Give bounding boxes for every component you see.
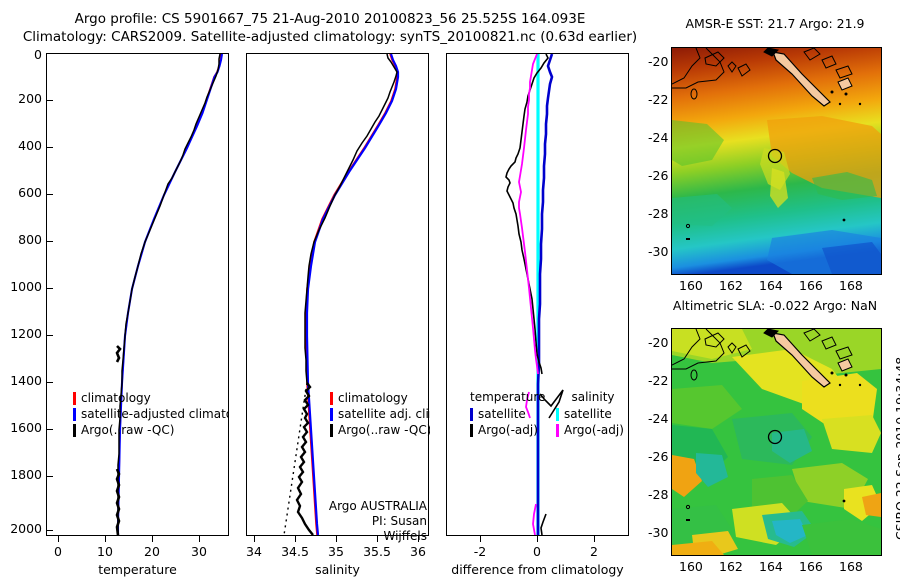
salinity-xtick-34p5: 34.5 bbox=[275, 544, 315, 559]
salinity-panel bbox=[246, 53, 429, 536]
salinity-curves bbox=[247, 54, 428, 535]
difference-xtick-neg2: -2 bbox=[460, 544, 500, 559]
depth-tick-2000: 2000 bbox=[0, 521, 42, 536]
sla-xtick-160: 160 bbox=[679, 559, 703, 574]
temperature-xtick-0: 0 bbox=[38, 544, 78, 559]
depth-tick-200: 200 bbox=[0, 91, 42, 106]
depth-tick-600: 600 bbox=[0, 185, 42, 200]
depth-tick-400: 400 bbox=[0, 138, 42, 153]
difference-legend: temperature satellite Argo(-adj) salinit… bbox=[470, 390, 630, 442]
difference-legend-salinity-column: salinity satellite Argo(-adj) bbox=[556, 390, 630, 442]
temperature-axis-label: temperature bbox=[46, 562, 229, 577]
sla-xtick-168: 168 bbox=[839, 559, 863, 574]
legend-item-argo: Argo(..raw -QC) bbox=[330, 422, 430, 438]
legend-swatch-salinity-argo bbox=[556, 424, 559, 437]
legend-item-satellite-adjusted: satellite-adjusted climatology bbox=[73, 406, 229, 422]
sla-ytick-m20: -20 bbox=[648, 335, 668, 350]
legend-label-temperature-satellite: satellite bbox=[478, 407, 526, 421]
sst-xtick-168: 168 bbox=[839, 278, 863, 293]
salinity-xtick-36: 36 bbox=[398, 544, 438, 559]
difference-xtick-0: 0 bbox=[517, 544, 557, 559]
sst-ytick-m28: -28 bbox=[648, 206, 668, 221]
legend-item-salinity-argo: Argo(-adj) bbox=[556, 422, 630, 438]
sla-map-field bbox=[672, 329, 881, 555]
salinity-xtick-35: 35 bbox=[316, 544, 356, 559]
sst-map-field bbox=[672, 48, 881, 274]
temperature-xtick-30: 30 bbox=[179, 544, 219, 559]
legend-item-satellite-adjusted: satellite adj. clim. bbox=[330, 406, 430, 422]
argo-program-name: Argo AUSTRALIA bbox=[325, 499, 427, 514]
difference-axis-label: difference from climatology bbox=[440, 562, 635, 577]
sla-xtick-164: 164 bbox=[759, 559, 783, 574]
sst-ytick-m20: -20 bbox=[648, 54, 668, 69]
sst-ytick-m22: -22 bbox=[648, 92, 668, 107]
legend-item-argo: Argo(..raw -QC) bbox=[73, 422, 229, 438]
figure-title: Argo profile: CS 5901667_75 21-Aug-2010 … bbox=[0, 10, 660, 46]
legend-swatch-climatology bbox=[330, 392, 333, 405]
sla-map bbox=[671, 328, 882, 556]
legend-swatch-salinity-satellite bbox=[556, 408, 559, 421]
legend-label-salinity-satellite: satellite bbox=[564, 407, 612, 421]
temperature-xtick-20: 20 bbox=[132, 544, 172, 559]
temperature-legend: climatology satellite-adjusted climatolo… bbox=[73, 390, 229, 442]
sst-xtick-166: 166 bbox=[799, 278, 823, 293]
legend-item-temperature-argo: Argo(-adj) bbox=[470, 422, 544, 438]
legend-swatch-satellite-adjusted bbox=[330, 408, 333, 421]
difference-xtick-2: 2 bbox=[574, 544, 614, 559]
sst-xtick-160: 160 bbox=[679, 278, 703, 293]
legend-item-climatology: climatology bbox=[330, 390, 430, 406]
sla-xtick-162: 162 bbox=[719, 559, 743, 574]
depth-tick-1800: 1800 bbox=[0, 467, 42, 482]
sla-ytick-m26: -26 bbox=[648, 449, 668, 464]
temperature-xtick-10: 10 bbox=[85, 544, 125, 559]
legend-swatch-satellite-adjusted bbox=[73, 408, 76, 421]
sst-ytick-m26: -26 bbox=[648, 168, 668, 183]
sst-ytick-m30: -30 bbox=[648, 244, 668, 259]
temperature-curves bbox=[47, 54, 228, 535]
legend-label-climatology: climatology bbox=[338, 391, 408, 405]
salinity-xtick-34: 34 bbox=[234, 544, 274, 559]
legend-label-satellite-adjusted: satellite-adjusted climatology bbox=[81, 407, 229, 421]
legend-swatch-temperature-argo bbox=[470, 424, 473, 437]
sla-ytick-m30: -30 bbox=[648, 525, 668, 540]
sla-ytick-m24: -24 bbox=[648, 411, 668, 426]
salinity-legend: climatology satellite adj. clim. Argo(..… bbox=[330, 390, 430, 442]
title-line-2: Climatology: CARS2009. Satellite-adjuste… bbox=[0, 28, 660, 46]
depth-tick-1600: 1600 bbox=[0, 420, 42, 435]
depth-tick-1000: 1000 bbox=[0, 279, 42, 294]
sla-ytick-m28: -28 bbox=[648, 487, 668, 502]
sla-map-title: Altimetric SLA: -0.022 Argo: NaN bbox=[655, 298, 895, 313]
legend-swatch-argo bbox=[73, 424, 76, 437]
legend-item-climatology: climatology bbox=[73, 390, 229, 406]
argo-program-annotation: Argo AUSTRALIA PI: Susan Wijffels bbox=[325, 499, 427, 544]
csiro-timestamp: CSIRO 22-Sep-2010 19:34:48 bbox=[893, 357, 900, 540]
argo-pi-name: PI: Susan Wijffels bbox=[325, 514, 427, 544]
legend-label-argo: Argo(..raw -QC) bbox=[338, 423, 430, 437]
salinity-xtick-35p5: 35.5 bbox=[357, 544, 397, 559]
sla-ytick-m22: -22 bbox=[648, 373, 668, 388]
legend-swatch-temperature-satellite bbox=[470, 408, 473, 421]
temperature-panel bbox=[46, 53, 229, 536]
legend-item-temperature-satellite: satellite bbox=[470, 406, 544, 422]
difference-legend-temperature-column: temperature satellite Argo(-adj) bbox=[470, 390, 544, 442]
title-line-1: Argo profile: CS 5901667_75 21-Aug-2010 … bbox=[0, 10, 660, 28]
legend-swatch-climatology bbox=[73, 392, 76, 405]
legend-label-salinity-argo: Argo(-adj) bbox=[564, 423, 624, 437]
legend-label-argo: Argo(..raw -QC) bbox=[81, 423, 174, 437]
sla-xtick-166: 166 bbox=[799, 559, 823, 574]
legend-heading-salinity: salinity bbox=[556, 390, 630, 406]
depth-tick-1400: 1400 bbox=[0, 373, 42, 388]
difference-curves bbox=[447, 54, 628, 535]
depth-tick-1200: 1200 bbox=[0, 326, 42, 341]
legend-label-satellite-adjusted: satellite adj. clim. bbox=[338, 407, 430, 421]
legend-item-salinity-satellite: satellite bbox=[556, 406, 630, 422]
sst-ytick-m24: -24 bbox=[648, 130, 668, 145]
sst-map-title: AMSR-E SST: 21.7 Argo: 21.9 bbox=[655, 16, 895, 31]
salinity-axis-label: salinity bbox=[246, 562, 429, 577]
sst-xtick-162: 162 bbox=[719, 278, 743, 293]
sst-map bbox=[671, 47, 882, 275]
sst-xtick-164: 164 bbox=[759, 278, 783, 293]
legend-heading-temperature: temperature bbox=[470, 390, 544, 406]
legend-swatch-argo bbox=[330, 424, 333, 437]
legend-label-climatology: climatology bbox=[81, 391, 151, 405]
legend-label-temperature-argo: Argo(-adj) bbox=[478, 423, 538, 437]
difference-panel bbox=[446, 53, 629, 536]
depth-tick-0: 0 bbox=[0, 47, 42, 62]
depth-tick-800: 800 bbox=[0, 232, 42, 247]
